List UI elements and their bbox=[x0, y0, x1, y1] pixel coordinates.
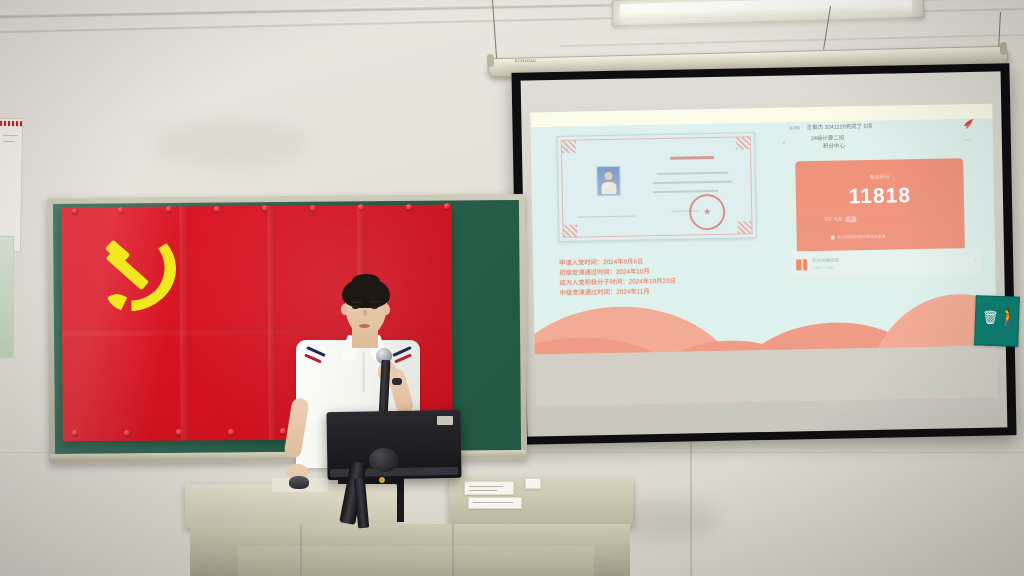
gift-row-subtitle: 点击进入兑换 bbox=[812, 265, 839, 271]
ear-left bbox=[341, 304, 348, 315]
gift-shop-row[interactable]: 积分兑换商城 点击进入兑换 › bbox=[791, 248, 981, 278]
flag-stud bbox=[262, 205, 268, 211]
certificate-corner-ornament bbox=[562, 141, 576, 153]
slide-lower-band bbox=[535, 346, 998, 407]
roller-brand-label: ECOLEAD bbox=[515, 58, 536, 63]
lectern-seam bbox=[452, 524, 454, 576]
party-badge-icon bbox=[960, 118, 976, 132]
gift-box-icon bbox=[796, 259, 807, 270]
roller-end-cap bbox=[1000, 42, 1007, 55]
back-chevron-icon[interactable]: ‹ bbox=[783, 140, 785, 147]
points-subtext-chip: 分 bbox=[845, 216, 856, 222]
gift-row-chevron-icon: › bbox=[974, 258, 976, 264]
classroom-photo: ECOLEAD bbox=[0, 0, 1024, 576]
gift-row-title: 积分兑换商城 bbox=[812, 257, 839, 264]
photo-body bbox=[601, 181, 616, 194]
litter-bin-icon: 🗑 bbox=[982, 310, 999, 324]
flag-stud bbox=[166, 206, 172, 212]
points-rule-note: 积分规则说明详情点击查看 bbox=[831, 234, 886, 241]
flag-stud bbox=[214, 206, 220, 212]
points-rule-text: 积分规则说明详情点击查看 bbox=[838, 234, 886, 241]
lectern-small-card bbox=[525, 478, 541, 489]
lectern-front-panel bbox=[238, 546, 594, 576]
mouth bbox=[359, 324, 370, 328]
seal-star-icon: ★ bbox=[703, 208, 711, 217]
flag-stud bbox=[358, 204, 364, 210]
phone-screenshot: 10:06 王俊杰 3241120完成了 5项 24级计算二班 积分中心 ‹ ⋯… bbox=[778, 118, 982, 312]
wall-poster-left bbox=[0, 118, 23, 252]
phone-title-line-3: 积分中心 bbox=[823, 142, 845, 151]
flag-stud bbox=[72, 430, 78, 436]
flag-stud bbox=[280, 428, 286, 434]
flag-fold bbox=[267, 206, 277, 440]
eyebrow-left bbox=[351, 301, 362, 303]
flag-stud bbox=[228, 429, 234, 435]
phone-status-time: 10:06 bbox=[789, 125, 800, 130]
photo-head bbox=[604, 172, 612, 181]
more-options-icon[interactable]: ⋯ bbox=[964, 136, 971, 144]
hair-tuft bbox=[352, 274, 380, 288]
flag-stud bbox=[310, 205, 316, 211]
flag-stud bbox=[118, 207, 124, 213]
certificate-image: ★ bbox=[557, 132, 757, 242]
projection-screen: ★ 10:06 王俊杰 3241120完成了 5项 24级计算二班 积分中心 ‹… bbox=[511, 63, 1016, 444]
points-card-caption: 我的积分 bbox=[795, 172, 963, 182]
wall-poster-green bbox=[0, 236, 14, 358]
note-bullet-icon bbox=[831, 236, 835, 240]
nose bbox=[363, 310, 367, 316]
wristwatch bbox=[392, 378, 402, 385]
lectern-paper-sheet bbox=[468, 497, 522, 509]
certificate-corner-ornament bbox=[737, 221, 751, 233]
person-icon: 🚶 bbox=[998, 309, 1020, 327]
certificate-photo bbox=[596, 166, 621, 196]
certificate-corner-ornament bbox=[736, 137, 750, 149]
flag-stud bbox=[176, 429, 182, 435]
flag-stud bbox=[124, 430, 130, 436]
monitor-arm-joint bbox=[369, 448, 399, 472]
eye-right bbox=[371, 306, 378, 309]
shirt-placket bbox=[362, 352, 365, 392]
paper-text-line bbox=[469, 490, 497, 491]
certificate-corner-ornament bbox=[563, 225, 577, 237]
points-subtext-label: 已扩大至 bbox=[824, 216, 842, 222]
poster-text-line bbox=[3, 141, 15, 142]
certificate-border bbox=[561, 136, 753, 238]
ear-right bbox=[383, 304, 390, 315]
projected-slide: ★ 10:06 王俊杰 3241120完成了 5项 24级计算二班 积分中心 ‹… bbox=[530, 104, 998, 407]
poster-top-band bbox=[0, 121, 22, 126]
wall-stain bbox=[150, 120, 310, 166]
monitor-label bbox=[437, 416, 453, 425]
eye-left bbox=[352, 306, 359, 309]
roller-end-cap bbox=[487, 54, 494, 67]
eyebrow-right bbox=[370, 301, 381, 303]
lectern-paper-sheet bbox=[464, 481, 514, 495]
lectern-seam bbox=[300, 524, 302, 576]
flag-stud bbox=[406, 204, 412, 210]
hammer-and-sickle-emblem bbox=[89, 228, 194, 333]
computer-mouse bbox=[289, 476, 309, 489]
points-value: 11818 bbox=[796, 184, 964, 208]
phone-title-line-1: 王俊杰 3241120完成了 5项 bbox=[807, 123, 873, 133]
paper-text-line bbox=[473, 502, 513, 503]
monitor-arm-screw bbox=[379, 477, 385, 483]
slide-caption-block: 申请入党时间：2024年9月6日 初级党课通过时间：2024年10月 成为入党积… bbox=[559, 256, 676, 297]
gift-row-text: 积分兑换商城 点击进入兑换 bbox=[812, 257, 839, 271]
points-subtext: 已扩大至 分 bbox=[824, 216, 856, 223]
flag-stud bbox=[444, 203, 450, 209]
flag-stud bbox=[72, 208, 78, 214]
paper-text-line bbox=[469, 486, 503, 487]
poster-text-line bbox=[3, 135, 18, 136]
no-littering-sign: 🗑 🚶 bbox=[974, 295, 1020, 347]
